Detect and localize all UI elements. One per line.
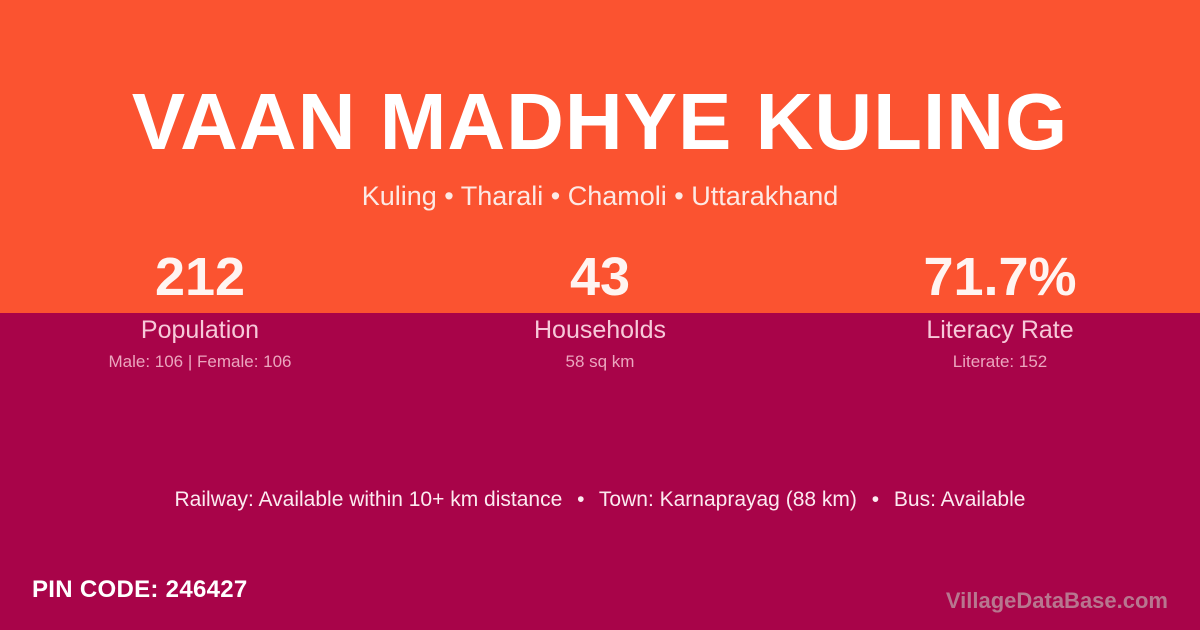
site-watermark: VillageDataBase.com [946,588,1168,614]
bus-info: Bus: Available [894,488,1026,511]
separator-dot-icon: • [568,487,593,513]
stat-label: Population [0,315,400,345]
page-title: VAAN MADHYE KULING [0,82,1200,162]
stat-value: 212 [0,248,400,306]
amenities-line: Railway: Available within 10+ km distanc… [0,487,1200,513]
village-info-card: VAAN MADHYE KULING Kuling • Tharali • Ch… [0,0,1200,630]
stat-sub: Male: 106 | Female: 106 [0,351,400,373]
stat-label: Households [400,315,800,345]
stat-label: Literacy Rate [800,315,1200,345]
pin-code: PIN CODE: 246427 [32,576,248,604]
stats-row: 212 Population Male: 106 | Female: 106 4… [0,248,1200,373]
stat-households: 43 Households 58 sq km [400,248,800,373]
railway-info: Railway: Available within 10+ km distanc… [175,488,563,511]
stat-literacy-rate: 71.7% Literacy Rate Literate: 152 [800,248,1200,373]
stat-value: 71.7% [800,248,1200,306]
stat-sub: Literate: 152 [800,351,1200,373]
stat-sub: 58 sq km [400,351,800,373]
separator-dot-icon: • [863,487,888,513]
stat-value: 43 [400,248,800,306]
stat-population: 212 Population Male: 106 | Female: 106 [0,248,400,373]
breadcrumb: Kuling • Tharali • Chamoli • Uttarakhand [0,183,1200,210]
town-info: Town: Karnaprayag (88 km) [599,488,857,511]
